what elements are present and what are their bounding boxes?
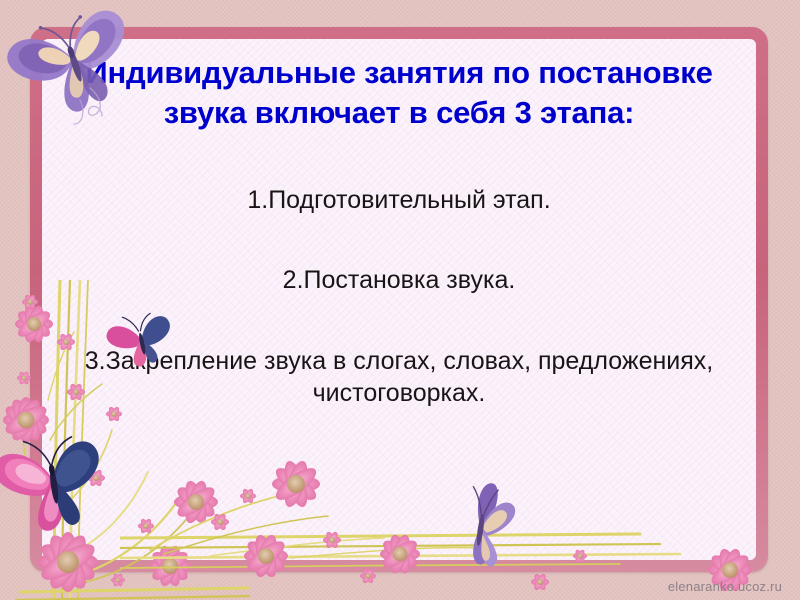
slide-frame: Индивидуальные занятия по постановке зву… [30, 27, 768, 572]
list-item: 2.Постановка звука. [76, 264, 722, 297]
watermark: elenaranko.ucoz.ru [668, 579, 782, 594]
slide-body: Индивидуальные занятия по постановке зву… [42, 39, 756, 410]
list-item: 1.Подготовительный этап. [76, 184, 722, 217]
stages-list: 1.Подготовительный этап. 2.Постановка зв… [76, 184, 722, 410]
slide-content-panel: Индивидуальные занятия по постановке зву… [42, 39, 756, 560]
presentation-slide: Индивидуальные занятия по постановке зву… [0, 0, 800, 600]
page-title: Индивидуальные занятия по постановке зву… [76, 53, 722, 134]
list-item: 3.Закрепление звука в слогах, словах, пр… [76, 345, 722, 410]
